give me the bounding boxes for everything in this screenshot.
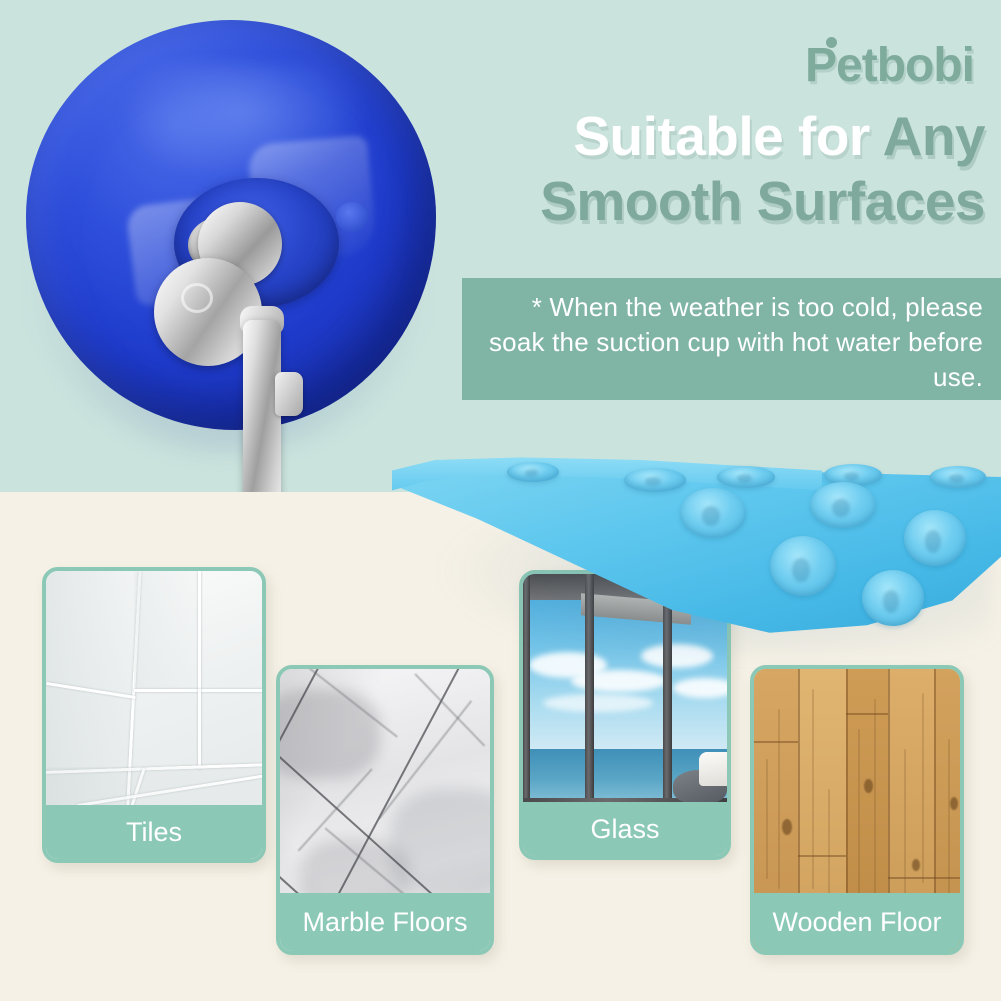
surface-card-glass[interactable]: Glass — [519, 570, 731, 860]
suction-cup-product-photo — [0, 0, 470, 492]
surface-card-tiles[interactable]: Tiles — [42, 567, 266, 863]
surface-card-wooden-floor[interactable]: Wooden Floor — [750, 665, 964, 955]
hero-section: Petbobi Suitable for Any Smooth Surfaces… — [0, 0, 1001, 492]
headline-any: Any — [883, 105, 985, 167]
page-title: Suitable for Any Smooth Surfaces — [455, 104, 985, 234]
brand-dot-icon — [826, 37, 837, 48]
suction-cup-nub — [336, 202, 368, 232]
note-text: * When the weather is too cold, please s… — [478, 290, 983, 394]
suction-cup-body — [26, 20, 436, 430]
headline-line-2: Smooth Surfaces — [455, 169, 985, 234]
brand-row: Petbobi — [470, 38, 980, 93]
brand-logo: Petbobi — [805, 38, 980, 93]
headline-suitable-for: Suitable for — [573, 105, 882, 167]
card-label-tiles: Tiles — [46, 805, 262, 859]
card-label-marble-floors: Marble Floors — [280, 893, 490, 951]
card-label-wooden-floor: Wooden Floor — [754, 893, 960, 951]
note-band: * When the weather is too cold, please s… — [462, 278, 1001, 400]
card-label-glass: Glass — [523, 802, 727, 856]
snap-hook-gate — [275, 372, 303, 416]
headline-line-1: Suitable for Any — [455, 104, 985, 169]
surface-card-marble-floors[interactable]: Marble Floors — [276, 665, 494, 955]
